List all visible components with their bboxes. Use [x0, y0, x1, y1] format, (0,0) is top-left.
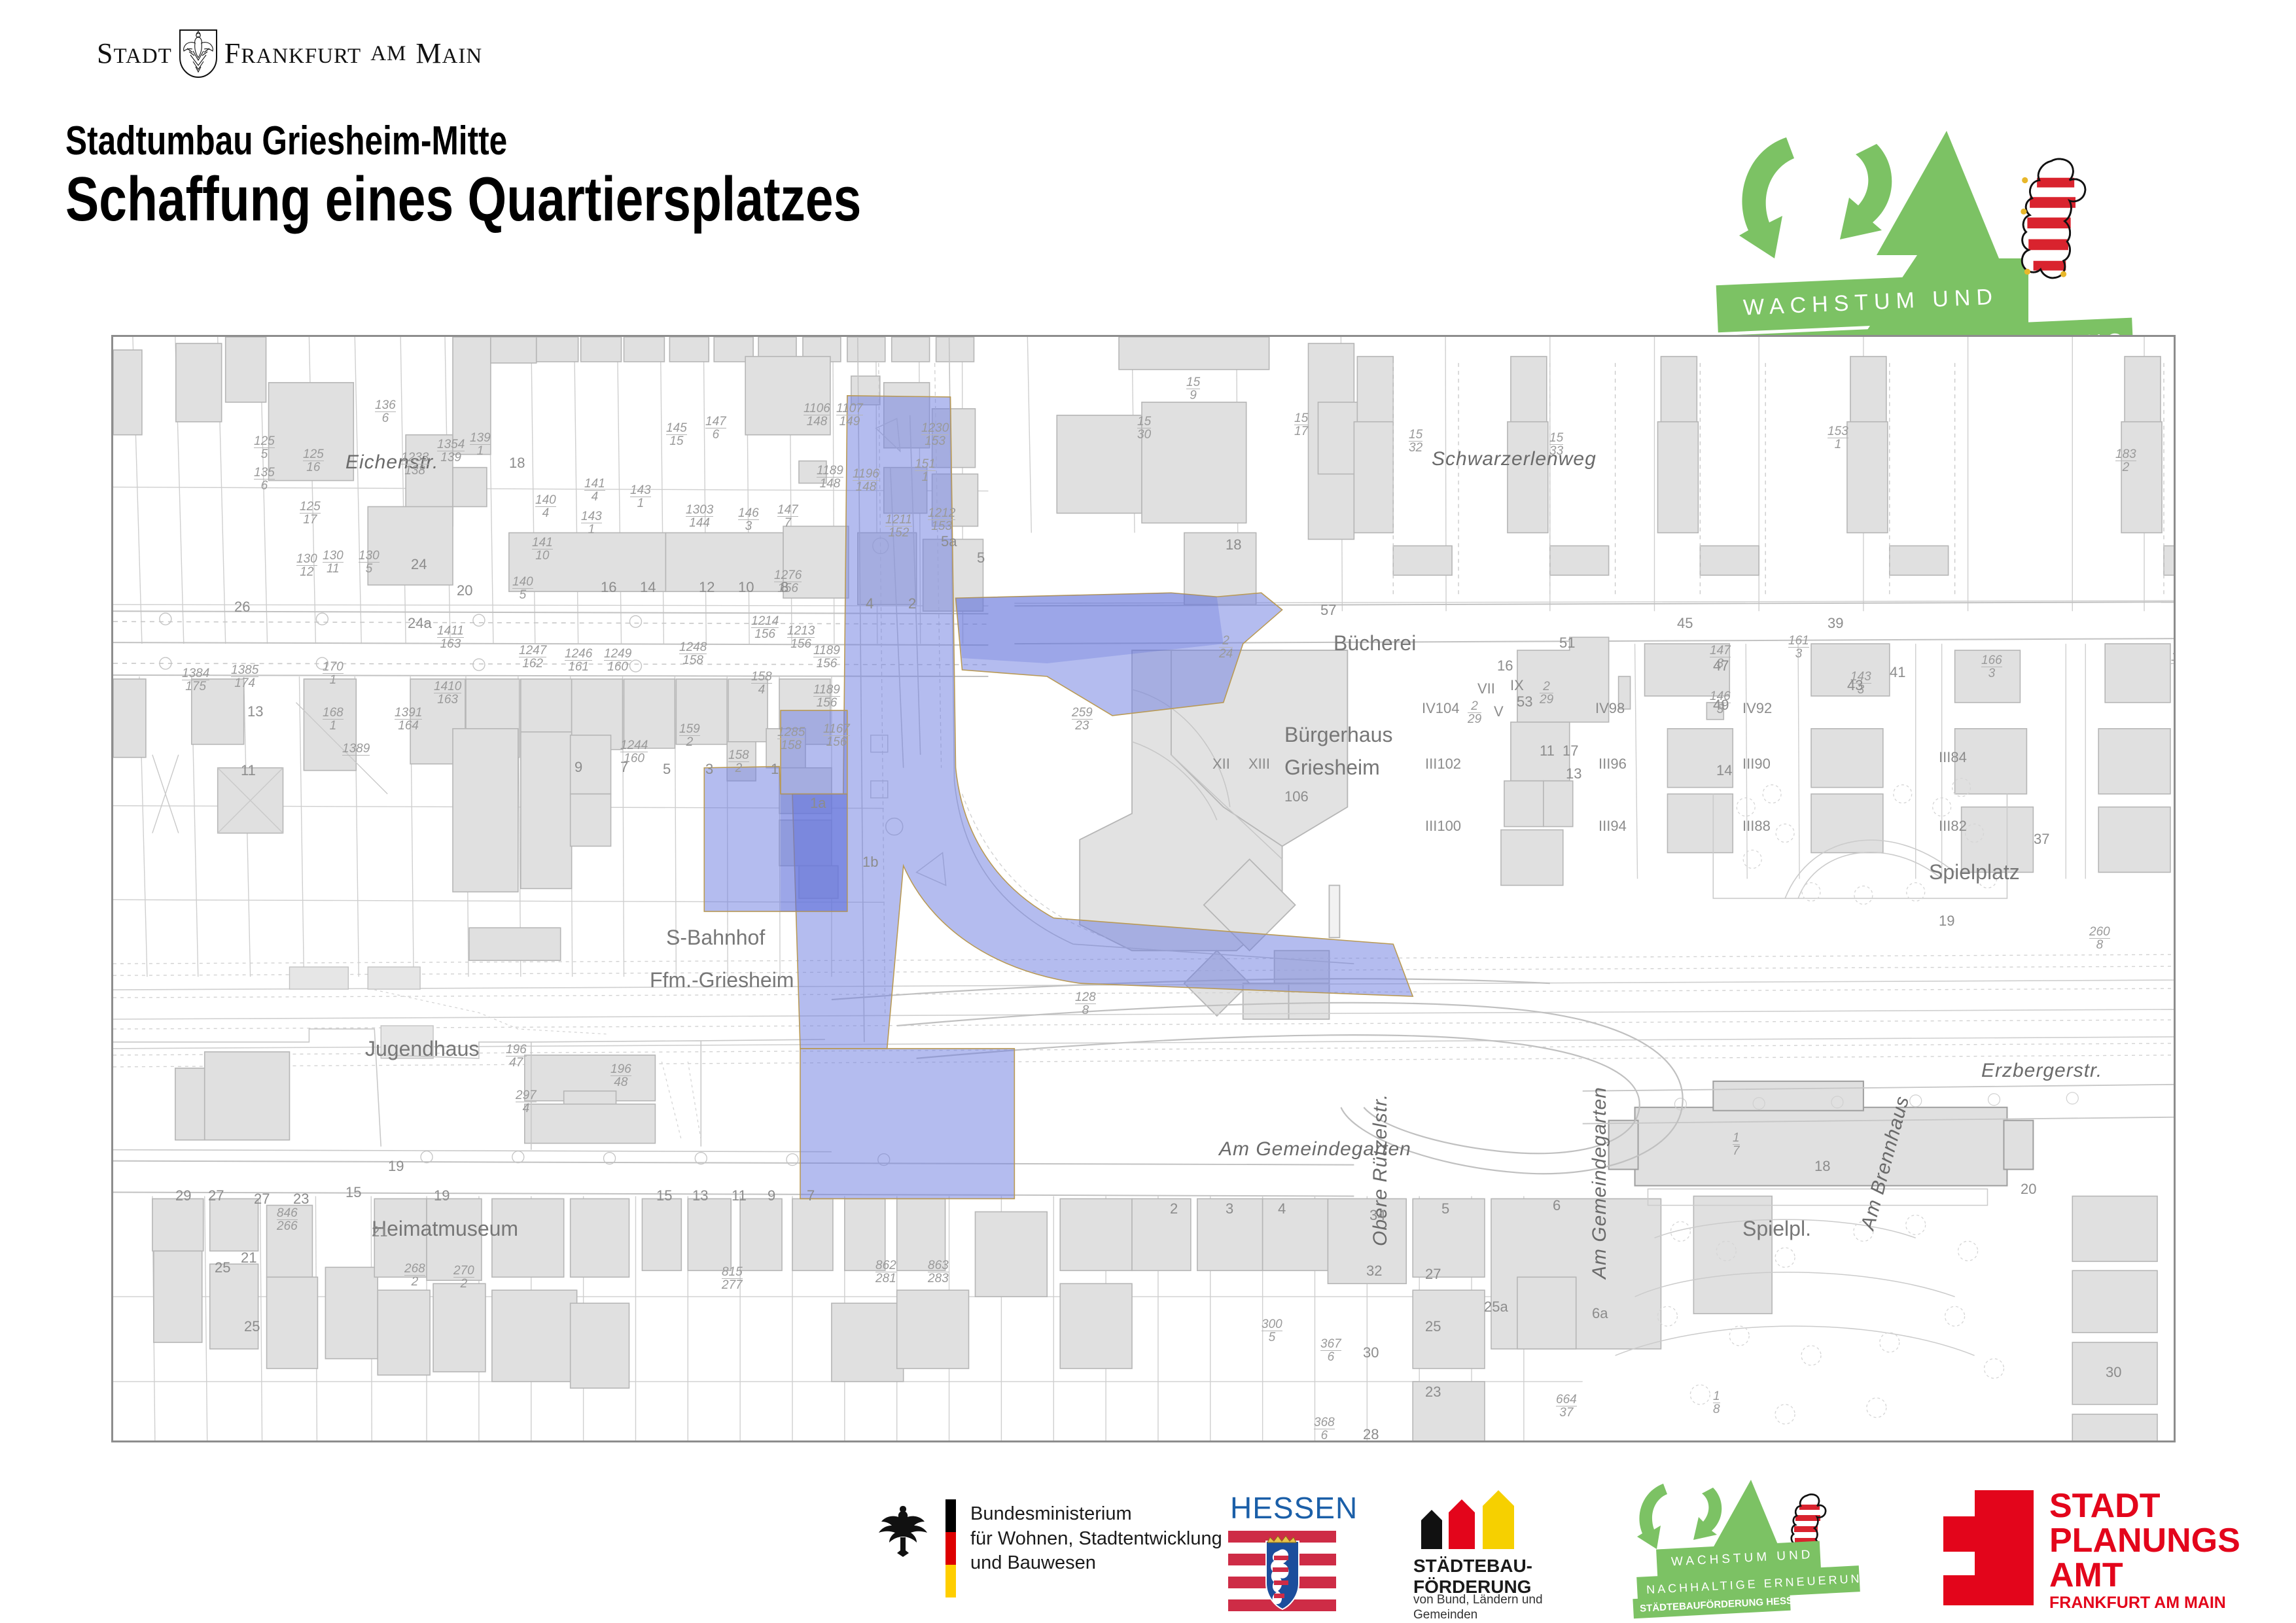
map-house-number: 24	[411, 556, 427, 573]
map-parcel-number: 1511	[915, 458, 936, 483]
city-of-frankfurt-logo: STADT FRANKFURT AM MAIN	[97, 27, 516, 80]
map-parcel-number: 1411163	[437, 625, 464, 650]
bmwsb-name: Bundesministerium für Wohnen, Stadtentwi…	[970, 1502, 1222, 1576]
city-logo-s: S	[97, 39, 113, 68]
map-house-number: III82	[1939, 818, 1967, 835]
map-parcel-number: 1196148	[853, 468, 879, 493]
map-house-number: 23	[1425, 1384, 1441, 1401]
map-house-number: VII	[1477, 680, 1495, 697]
three-houses-icon	[1415, 1490, 1532, 1549]
map-house-number: 5a	[941, 533, 957, 550]
map-parcel-number: 1107149	[836, 402, 863, 428]
map-parcel-number: 12516	[303, 448, 324, 474]
map-house-number: IV92	[1742, 700, 1772, 717]
map-house-number: 37	[2034, 831, 2049, 848]
map-poi-label: Ffm.-Griesheim	[650, 968, 794, 992]
map-parcel-number: 1405	[512, 576, 533, 601]
map-house-number: 18	[1814, 1158, 1830, 1175]
map-street-label: Am Gemeindegarten	[1589, 1087, 1611, 1279]
map-parcel-number: 159	[1186, 376, 1200, 402]
map-house-number: 15	[656, 1187, 672, 1204]
map-house-number: 51	[1559, 635, 1575, 652]
federal-eagle-icon	[874, 1505, 932, 1563]
map-parcel-number: 1366	[375, 399, 396, 425]
map-parcel-number: 1476	[705, 415, 726, 441]
map-house-number: 23	[293, 1191, 309, 1208]
map-house-number: 21	[241, 1249, 256, 1266]
map-house-number: 29	[175, 1187, 191, 1204]
map-house-number: III100	[1425, 818, 1461, 835]
recycle-arrow-icon	[1637, 1484, 1722, 1549]
logo-hessen: HESSEN	[1214, 1472, 1371, 1622]
map-house-number: 13	[1566, 765, 1581, 782]
map-house-number: 4	[1278, 1200, 1286, 1217]
map-house-number: 30	[1363, 1344, 1379, 1361]
map-parcel-number: 17	[1733, 1132, 1740, 1157]
map-parcel-number: 1517	[1294, 412, 1308, 438]
map-parcel-number: 19647	[506, 1043, 527, 1069]
hessen-lion-icon	[2021, 159, 2085, 278]
map-parcel-number: 13011	[323, 550, 344, 575]
map-parcel-number: 1356	[254, 466, 275, 492]
map-house-number: 9	[768, 1187, 775, 1204]
city-logo-word-frankfurt: FRANKFURT	[224, 39, 361, 68]
map-house-number: 13	[692, 1187, 708, 1204]
map-house-number: 32	[1366, 1263, 1382, 1280]
map-house-number: IV104	[1422, 700, 1460, 717]
map-parcel-number: 1246161	[565, 648, 592, 673]
spa-line1: STADT	[2049, 1489, 2240, 1524]
bmwsb-line3: und Bauwesen	[970, 1551, 1222, 1576]
map-house-number: III88	[1742, 818, 1771, 835]
map-parcel-number: 12517	[300, 500, 321, 526]
city-logo-f: F	[224, 39, 241, 68]
map-parcel-number: 1189148	[817, 464, 843, 490]
map-parcel-number: 14515	[666, 422, 687, 447]
staedtebau-line1: STÄDTEBAU-	[1413, 1556, 1532, 1577]
map-parcel-number: 1255	[254, 435, 275, 461]
map-parcel-number: 1414	[584, 478, 605, 503]
map-house-number: 1b	[862, 854, 878, 871]
map-parcel-number: 1530	[1137, 415, 1151, 441]
city-logo-word-stadt: STADT	[97, 39, 172, 68]
map-house-number: 9	[574, 759, 582, 776]
map-house-number: 47	[1713, 657, 1729, 674]
spa-city: FRANKFURT AM MAIN	[2049, 1594, 2226, 1613]
map-parcel-number: 1592	[679, 723, 700, 748]
logo-wachstum-footer: WACHSTUM UND NACHHALTIGE ERNEUERUNG STÄD…	[1616, 1472, 1904, 1622]
map-house-number: III84	[1939, 749, 1967, 766]
map-house-number: 3	[705, 761, 713, 778]
map-house-number: III94	[1598, 818, 1627, 835]
map-parcel-number: 1477	[777, 504, 798, 529]
map-parcel-number: 14110	[532, 536, 553, 562]
map-house-number: 2	[908, 595, 916, 612]
map-house-number: 19	[434, 1187, 450, 1204]
map-house-number: 8	[781, 579, 788, 596]
city-logo-word-main: MAIN	[415, 39, 482, 68]
map-house-number: 25	[215, 1259, 230, 1276]
map-street-label: Erzbergerstr.	[1981, 1060, 2102, 1082]
map-house-number: 11	[732, 1187, 747, 1204]
logo-bundesministerium: Bundesministerium für Wohnen, Stadtentwi…	[874, 1472, 1240, 1622]
city-logo-am: AM	[370, 43, 406, 65]
map-parcel-number: 863283	[928, 1259, 949, 1285]
map-parcel-number: 1303144	[686, 504, 713, 529]
map-parcel-number: 815277	[722, 1266, 743, 1291]
map-house-number: 34	[1369, 1207, 1385, 1224]
map-house-number: IX	[1510, 677, 1524, 694]
map-house-number: 10	[738, 579, 754, 596]
map-house-number: 27	[1425, 1266, 1441, 1283]
map-house-number: 18	[509, 455, 525, 472]
map-parcel-number: 3686	[1314, 1416, 1335, 1442]
map-house-number: III90	[1742, 756, 1771, 773]
map-parcel-number: 1211152	[885, 514, 912, 539]
map-parcel-number: 1233138	[401, 451, 429, 477]
map-parcel-number: 66437	[1556, 1393, 1577, 1419]
map-house-number: 6a	[1592, 1305, 1608, 1322]
map-parcel-number: 3676	[1320, 1338, 1341, 1363]
map-house-number: 28	[1363, 1426, 1379, 1442]
map-parcel-number: 1249160	[604, 648, 631, 673]
map-parcel-number: 1832	[2115, 448, 2136, 474]
map-house-number: 11	[241, 762, 256, 779]
map-house-number: 26	[234, 599, 250, 616]
map-parcel-number: 1385174	[231, 664, 258, 689]
logo-stadtplanungsamt: STADT PLANUNGS AMT FRANKFURT AM MAIN	[1937, 1472, 2277, 1622]
city-logo-m: M	[415, 39, 442, 68]
map-house-number: 19	[1939, 913, 1954, 930]
map-house-number: 25a	[1484, 1299, 1508, 1316]
map-house-number: III96	[1598, 756, 1627, 773]
page-header: STADT FRANKFURT AM MAIN	[0, 0, 2296, 327]
staedtebau-subtitle: von Bund, Ländern und Gemeinden	[1413, 1593, 1543, 1623]
map-house-number: 5	[977, 550, 985, 567]
map-parcel-number: 1389	[342, 742, 370, 756]
map-parcel-number: 1582	[728, 749, 749, 775]
map-parcel-number: 229	[1540, 680, 1553, 706]
map-parcel-number: 1681	[323, 707, 344, 732]
map-parcel-number: 862281	[875, 1259, 896, 1285]
map-house-number: 45	[1677, 615, 1693, 632]
map-parcel-number: 2608	[2089, 926, 2110, 951]
map-parcel-number: 1384175	[182, 667, 209, 693]
map-parcel-number: 1701	[323, 661, 344, 686]
map-house-number: 43	[1847, 677, 1863, 694]
map-parcel-number: 1613	[1788, 635, 1809, 660]
map-parcel-number: 1431	[581, 510, 602, 536]
map-house-number: 11	[1540, 742, 1555, 759]
cadastral-site-map[interactable]: Eichenstr.SchwarzerlenwegErzbergerstr.Am…	[111, 335, 2176, 1442]
map-house-number: 19	[388, 1158, 404, 1175]
map-house-number: 6	[1553, 1197, 1561, 1214]
city-logo-rankfurt: RANKFURT	[241, 46, 361, 67]
map-house-number: 14	[640, 579, 656, 596]
map-house-number: 57	[1320, 602, 1336, 619]
map-parcel-number: 1410163	[434, 680, 461, 706]
map-parcel-number: 1167156	[823, 723, 850, 748]
map-parcel-number: 2682	[404, 1263, 425, 1288]
map-parcel-number: 1533	[1549, 432, 1563, 457]
map-poi-label: Spielpl.	[1742, 1217, 1811, 1241]
map-parcel-number: 1213156	[787, 625, 815, 650]
map-parcel-number: 1663	[1981, 654, 2002, 680]
city-logo-ain: AIN	[442, 46, 483, 67]
german-flag-stripe	[945, 1499, 956, 1597]
map-house-number: 21	[372, 1223, 387, 1240]
map-house-number: 1a	[810, 795, 826, 812]
map-poi-label: S-Bahnhof	[666, 926, 765, 950]
map-parcel-number: 1285158	[777, 726, 805, 752]
map-house-number: XII	[1212, 756, 1230, 773]
map-parcel-number: 1212153	[928, 507, 955, 532]
map-parcel-number: 1230153	[921, 422, 949, 447]
map-poi-label: Spielplatz	[1929, 860, 2020, 884]
page-title: Schaffung eines Quartiersplatzes	[65, 164, 861, 236]
map-house-number: III102	[1425, 756, 1461, 773]
staedtebau-line4: Gemeinden	[1413, 1608, 1543, 1623]
hessen-coat-of-arms-icon	[1228, 1529, 1336, 1612]
map-house-number: 5	[1441, 1200, 1449, 1217]
map-house-number: 39	[1828, 615, 1843, 632]
hessen-wordmark: HESSEN	[1230, 1490, 1358, 1526]
map-poi-label: Griesheim	[1284, 756, 1380, 780]
map-house-number: 17	[1563, 742, 1578, 759]
map-house-number: 16	[1497, 657, 1513, 674]
bmwsb-line1: Bundesministerium	[970, 1502, 1222, 1527]
map-parcel-number: 19648	[610, 1063, 631, 1089]
map-house-number: 18	[1226, 536, 1241, 553]
map-house-number: 15	[345, 1184, 361, 1201]
map-parcel-number: 1463	[738, 507, 759, 532]
map-house-number: 7	[620, 759, 628, 776]
map-house-number: 25	[1425, 1318, 1441, 1335]
map-house-number: V	[1494, 703, 1504, 720]
map-parcel-number: 2702	[453, 1265, 474, 1290]
project-subtitle: Stadtumbau Griesheim-Mitte	[65, 118, 507, 164]
map-parcel-number: 1214156	[751, 615, 779, 640]
map-parcel-number: 25923	[1072, 707, 1093, 732]
map-parcel-number: 1354139	[437, 438, 465, 464]
stadtplanungsamt-mark-icon	[1943, 1490, 2034, 1605]
map-street-label: Schwarzerlenweg	[1432, 448, 1597, 470]
map-parcel-number: 1431	[630, 484, 651, 510]
city-logo-word-am: AM	[370, 43, 406, 65]
map-house-number: 53	[1517, 693, 1532, 710]
map-house-number: 20	[457, 582, 472, 599]
map-house-number: 106	[1284, 788, 1309, 805]
map-parcel-number: 846266	[277, 1207, 298, 1232]
map-parcel-number: 1391	[470, 432, 491, 457]
map-house-number: 27	[254, 1191, 270, 1208]
map-parcel-number: 1391164	[395, 707, 422, 732]
staedtebau-line3: von Bund, Ländern und	[1413, 1593, 1543, 1608]
map-poi-label: Bücherei	[1333, 631, 1416, 655]
staedtebau-title: STÄDTEBAU- FÖRDERUNG	[1413, 1556, 1532, 1597]
map-parcel-number: 3005	[1262, 1318, 1282, 1344]
map-house-number: 27	[208, 1187, 224, 1204]
map-poi-label: Bürgerhaus	[1284, 723, 1392, 747]
map-parcel-number: 1189156	[813, 684, 840, 709]
map-house-number: 5	[663, 761, 671, 778]
map-house-number: 13	[247, 703, 263, 720]
map-house-number: 2	[1170, 1200, 1178, 1217]
map-house-number: 1	[771, 761, 779, 778]
map-parcel-number: 1531	[1828, 425, 1848, 451]
city-logo-tadt: TADT	[113, 46, 171, 67]
map-parcel-number: 1404	[535, 494, 556, 519]
map-house-number: 7	[807, 1187, 815, 1204]
map-house-number: XIII	[1248, 756, 1270, 773]
map-parcel-number: 1584	[751, 671, 772, 696]
map-parcel-number: 1288	[1075, 991, 1096, 1017]
map-parcel-number: 1247162	[519, 644, 546, 670]
map-parcel-number: 224	[1219, 635, 1233, 660]
map-house-number: 3	[1226, 1200, 1233, 1217]
map-house-number: 49	[1713, 697, 1729, 714]
map-house-number: 12	[699, 579, 715, 596]
map-house-number: 20	[2021, 1181, 2036, 1198]
map-parcel-number: 1714	[2171, 651, 2176, 676]
page-footer: Bundesministerium für Wohnen, Stadtentwi…	[0, 1472, 2296, 1622]
map-parcel-number: 18	[1713, 1390, 1720, 1416]
frankfurt-eagle-crest-icon	[179, 29, 218, 79]
map-parcel-number: 229	[1468, 700, 1481, 725]
map-house-number: 41	[1890, 664, 1905, 681]
map-parcel-number: 1189156	[813, 644, 840, 670]
bmwsb-line2: für Wohnen, Stadtentwicklung	[970, 1527, 1222, 1552]
map-house-number: 14	[1716, 762, 1732, 779]
map-house-number: 4	[866, 595, 874, 612]
spa-line2: PLANUNGS	[2049, 1524, 2240, 1558]
map-house-number: 25	[244, 1318, 260, 1335]
map-parcel-number: 1106148	[804, 402, 830, 428]
spa-wordmark: STADT PLANUNGS AMT	[2049, 1489, 2240, 1593]
map-house-number: 30	[2106, 1364, 2121, 1381]
map-parcel-number: 1532	[1409, 428, 1422, 454]
recycle-arrow-icon	[1739, 137, 1892, 258]
map-poi-label: Heimatmuseum	[372, 1217, 518, 1241]
map-house-number: 16	[601, 579, 616, 596]
map-parcel-number: 13012	[296, 553, 317, 578]
map-parcel-number: 1248158	[679, 641, 707, 667]
map-house-number: 24a	[408, 615, 432, 632]
logo-staedtebaufoerderung: STÄDTEBAU- FÖRDERUNG von Bund, Ländern u…	[1407, 1472, 1623, 1622]
map-poi-label: Jugendhaus	[365, 1037, 479, 1061]
map-parcel-number: 1305	[359, 550, 380, 575]
map-house-number: IV98	[1595, 700, 1625, 717]
map-parcel-number: 2974	[516, 1089, 537, 1115]
spa-line3: AMT	[2049, 1558, 2240, 1593]
